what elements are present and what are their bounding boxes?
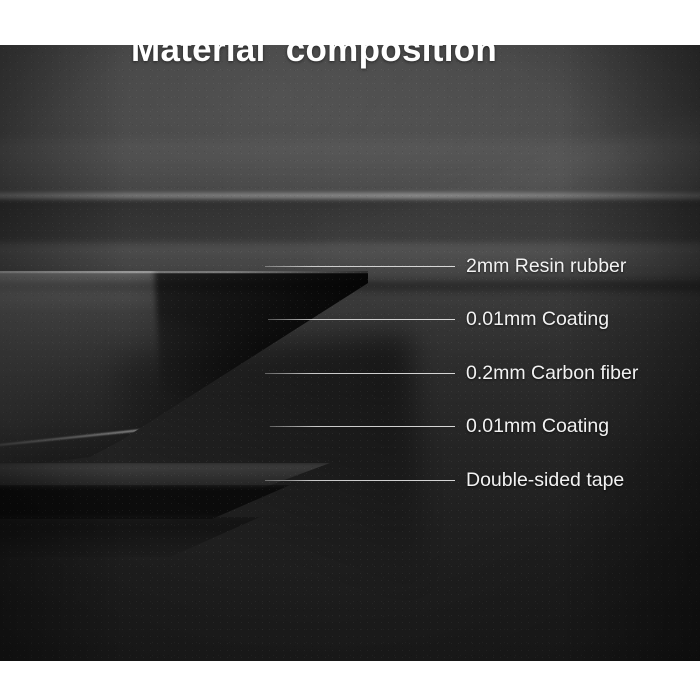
leader-line (265, 373, 455, 374)
callout-label: 2mm Resin rubber (466, 255, 626, 278)
leader-line (265, 480, 455, 481)
callout-label: 0.01mm Coating (466, 415, 609, 438)
bottom-white-border (0, 661, 700, 700)
callout-label: 0.2mm Carbon fiber (466, 362, 638, 385)
leader-line (265, 266, 455, 267)
photo-panel (0, 45, 700, 661)
product-detail-image: Material composition 2mm Resin rubber0.0… (0, 0, 700, 700)
callout-5: Double-sided tape (0, 469, 700, 493)
callout-2: 0.01mm Coating (0, 308, 700, 332)
leader-line (268, 319, 455, 320)
callout-4: 0.01mm Coating (0, 415, 700, 439)
callout-3: 0.2mm Carbon fiber (0, 362, 700, 386)
photo-vignette (0, 45, 700, 661)
callout-label: Double-sided tape (466, 469, 624, 492)
leader-line (270, 426, 455, 427)
callout-label: 0.01mm Coating (466, 308, 609, 331)
callout-1: 2mm Resin rubber (0, 255, 700, 279)
top-white-border (0, 0, 700, 45)
